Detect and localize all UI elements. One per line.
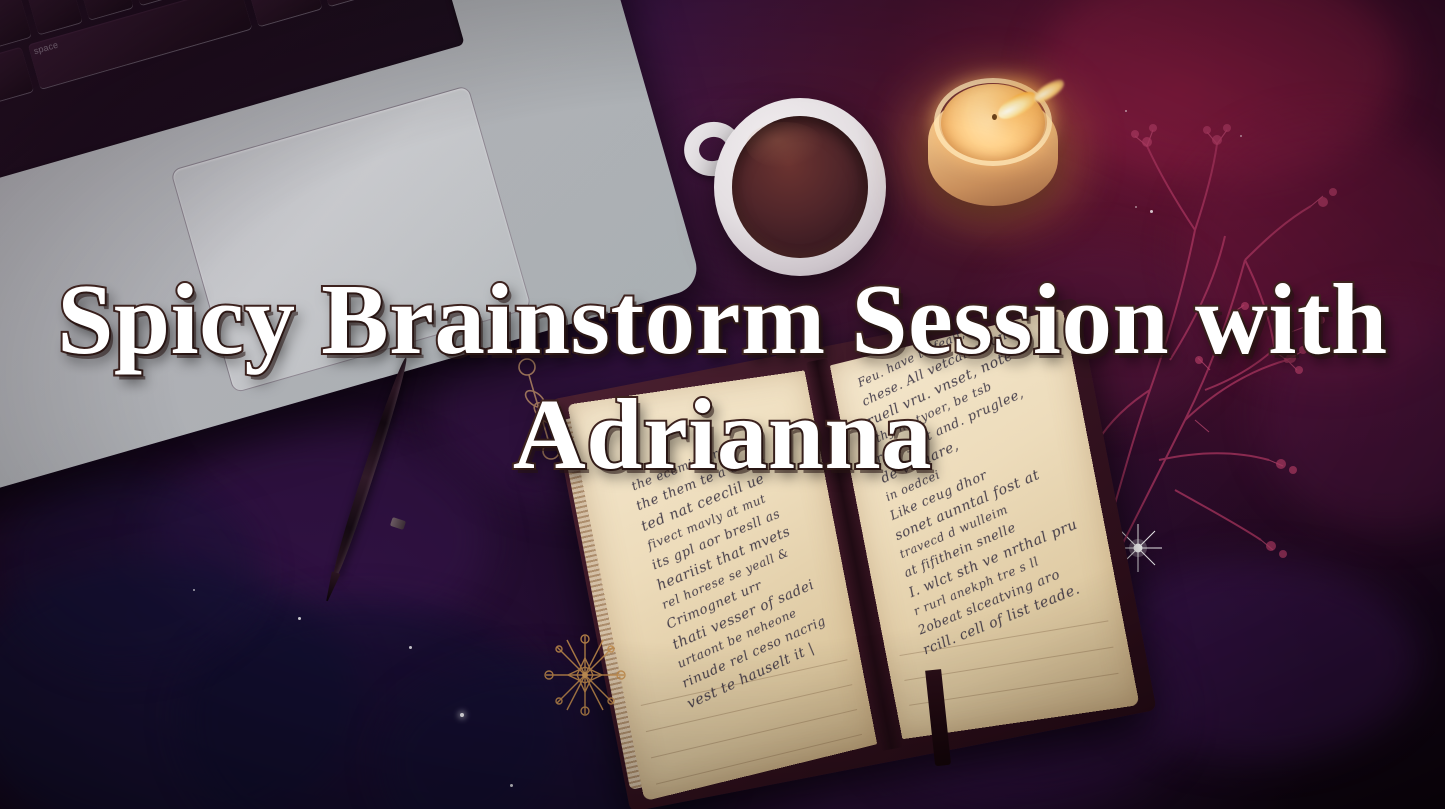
candle-wick <box>992 114 997 120</box>
dragonfly-charm-icon <box>505 355 575 465</box>
coffee-mug <box>706 98 886 278</box>
candle <box>928 78 1062 212</box>
candle-flame-reflection <box>1031 76 1067 105</box>
star-ornament-icon <box>540 630 630 720</box>
poster-canvas: esc1234567890-=deletetabQWERTYUIOP[]\cap… <box>0 0 1445 809</box>
mug-sheen <box>746 122 824 168</box>
candle-jar-rim <box>934 78 1052 166</box>
